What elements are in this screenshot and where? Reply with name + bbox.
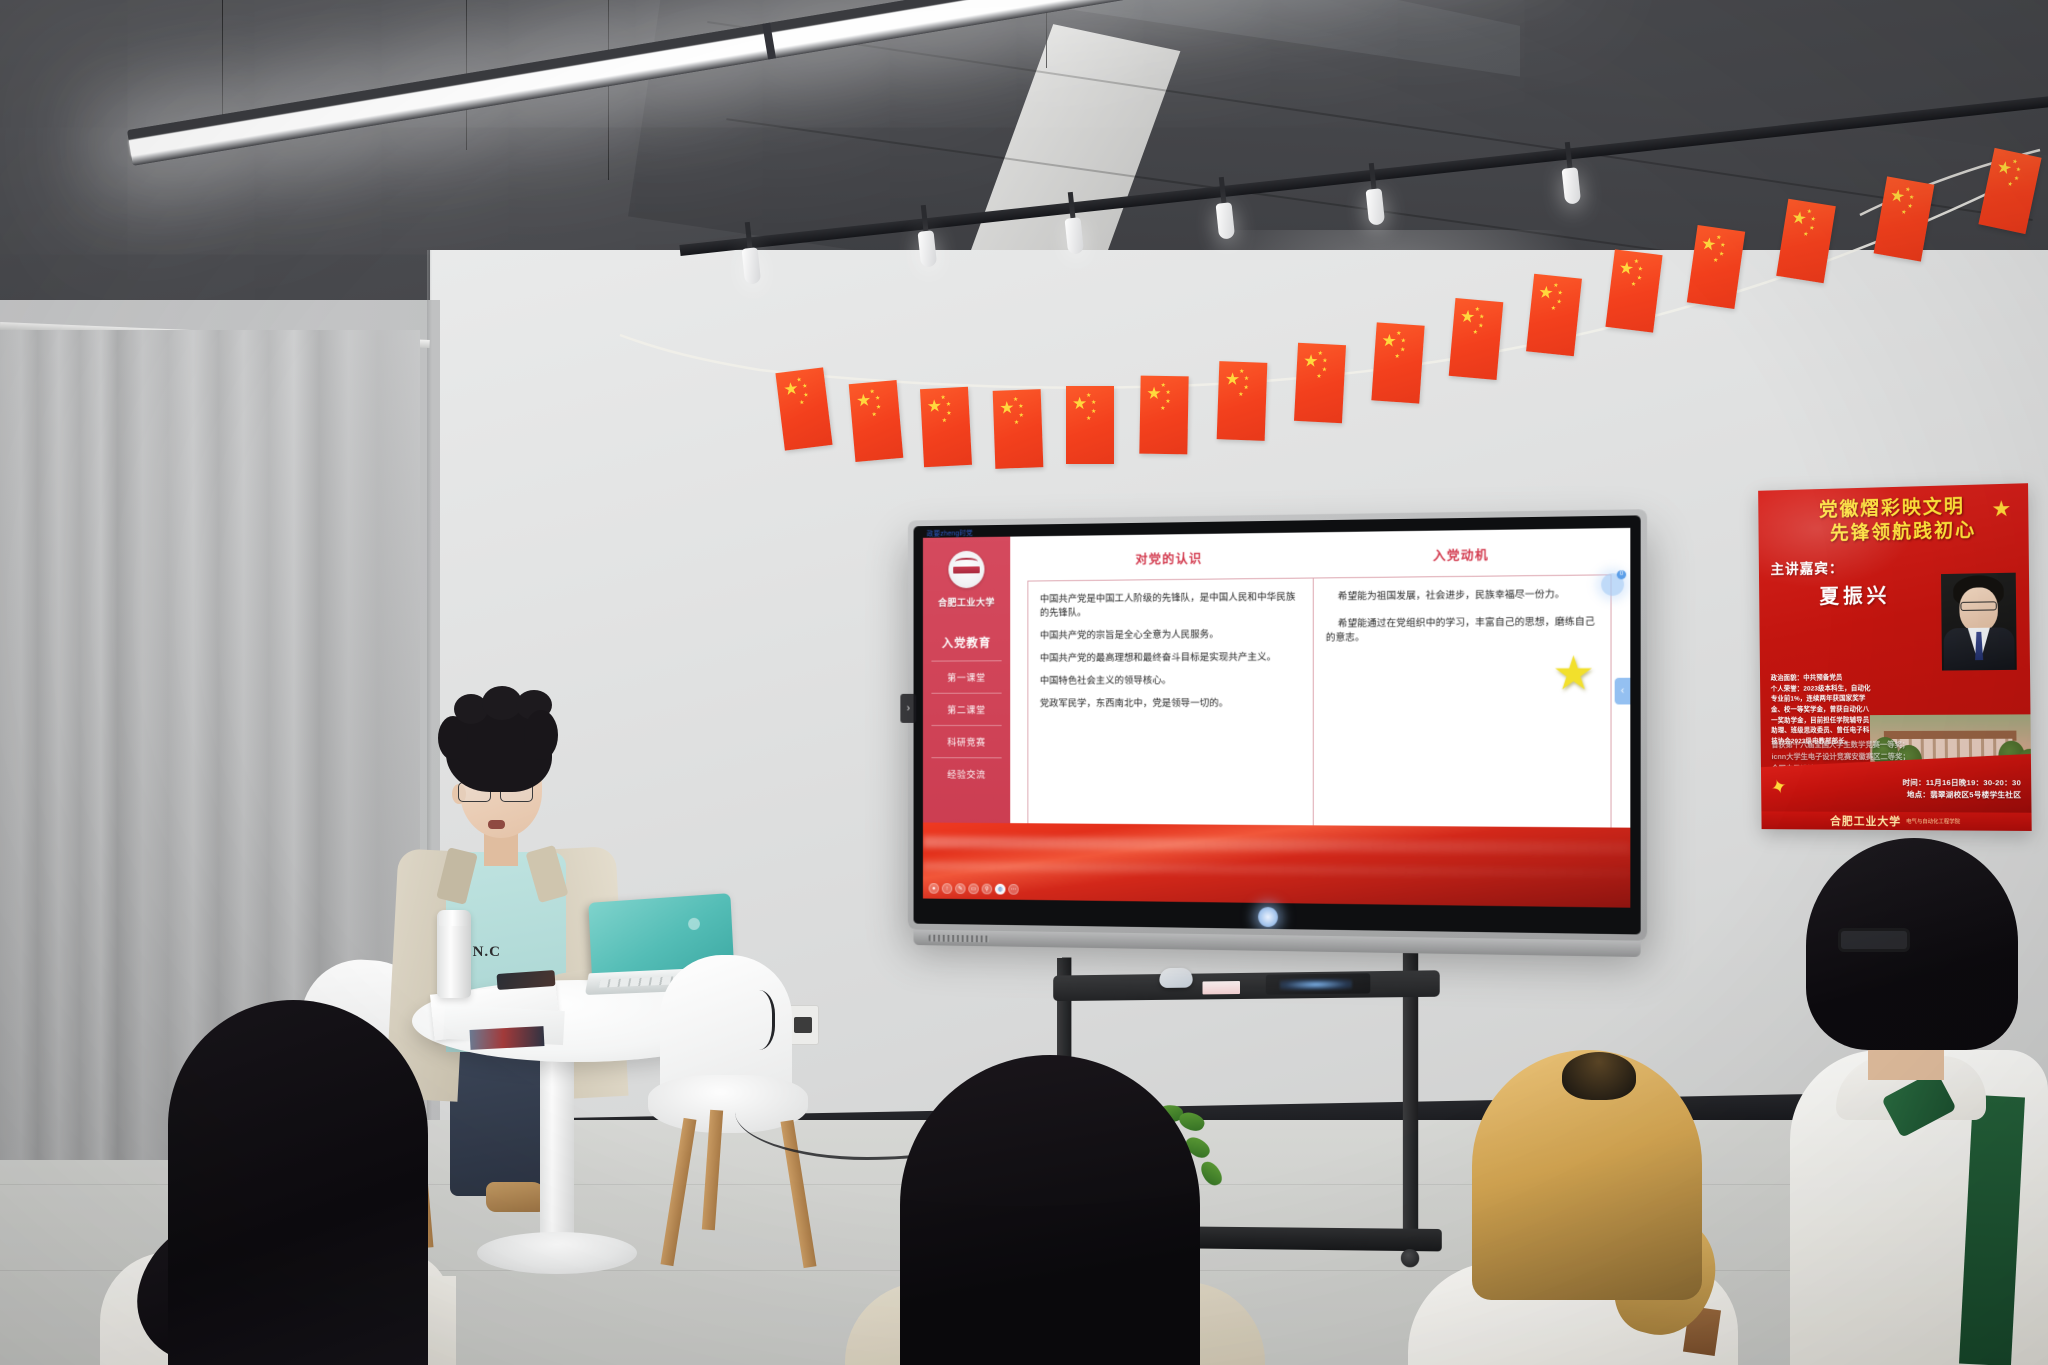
slide-heading-right: 入党动机 [1313,543,1611,566]
presenter-tshirt-text: R.N.C [456,944,556,961]
slide-nav-item-research[interactable]: 科研竞赛 [931,725,1001,757]
table-base [477,1232,637,1274]
event-poster[interactable]: ★ 党徽熠彩映文明 先锋领航践初心 主讲嘉宾： 夏振兴 政治面貌：中共预备党员 … [1758,483,2032,831]
slide-nav-item-second-classroom[interactable]: 第二课堂 [931,693,1001,725]
chevron-left-icon[interactable]: ‹ [1615,678,1631,705]
eraser-icon[interactable]: ▭ [968,883,978,894]
screen-watermark: 政要zheng时党 [927,528,973,538]
audience-center-long-black-hair [900,1055,1200,1365]
display-chin [914,900,1641,934]
slide-two-column-box: 中国共产党是中国工人阶级的先锋队，是中国人民和中华民族的先锋队。 中国共产党的宗… [1027,574,1611,851]
slide-nav-title: 入党教育 [942,634,991,651]
pen-icon[interactable]: ✎ [955,883,965,894]
poster-bio: 政治面貌：中共预备党员 个人荣誉：2023级本科生，自动化 专业前1%，连续两年… [1771,673,1937,748]
slide-paragraph: 中国共产党的最高理想和最终奋斗目标是实现共产主义。 [1040,651,1301,666]
avatar-badge-count: 0 [1617,570,1626,579]
slide-paragraph: 中国共产党是中国工人阶级的先锋队，是中国人民和中华民族的先锋队。 [1040,591,1301,621]
portrait-photo-icon [1941,573,2017,671]
table-stem [540,1040,574,1250]
thermos-tumbler[interactable] [437,910,471,998]
slide-university-name: 合肥工业大学 [938,595,995,609]
slide-column-right: 希望能为祖国发展，社会进步，民族幸福尽一份力。 希望能通过在党组织中的学习，丰富… [1314,575,1611,850]
audience-left-long-black-hair [168,1000,428,1365]
palette-icon[interactable]: ◍ [995,884,1005,895]
wireless-keyboard[interactable] [1266,973,1370,994]
ceiling-hanger-wire [222,0,223,120]
power-button-icon[interactable] [1258,907,1278,927]
presentation-slide: 合肥工业大学 入党教育 第一课堂 第二课堂 科研竞赛 经验交流 对党的认识 入党… [923,528,1630,908]
interactive-flat-panel-display[interactable]: › 政要zheng时党 合肥工业大学 入党教育 第一课堂 第二课堂 科研竞赛 经… [908,509,1647,941]
slide-paragraph: 希望能为祖国发展，社会进步，民族幸福尽一份力。 [1326,588,1598,605]
pointer-icon[interactable]: ↑ [942,883,952,894]
display-bezel: 政要zheng时党 合肥工业大学 入党教育 第一课堂 第二课堂 科研竞赛 经验交… [914,515,1641,934]
audience-blonde-hair-roots [1562,1052,1636,1100]
poster-title-line2: 先锋领航践初心 [1789,518,2018,547]
record-icon[interactable]: ● [929,883,939,894]
slide-paragraph: 中国共产党的宗旨是全心全意为人民服务。 [1040,628,1301,644]
poster-event-location: 地点：翡翠湖校区5号楼学生社区 [1907,789,2021,800]
computer-mouse[interactable] [1159,968,1192,988]
university-seal-icon [948,551,984,589]
poster-event-time: 时间：11月16日晚19：30-20：30 [1902,777,2021,788]
display-speaker-grille [929,935,990,943]
classroom-presentation-photo: ★★★★★ ★★★★★ ★★★★★ ★★★★★ ★★★★★ ★★★★★ ★★★★… [0,0,2048,1365]
slide-column-left: 中国共产党是中国工人阶级的先锋队，是中国人民和中华民族的先锋队。 中国共产党的宗… [1028,579,1313,848]
slide-headings: 对党的认识 入党动机 [1027,543,1611,569]
magnifier-icon[interactable]: ⚲ [982,884,992,895]
poster-footer-school: 电气与自动化工程学院 [1906,817,1960,825]
slide-paragraph: 中国特色社会主义的领导核心。 [1040,673,1301,688]
slide-nav-list: 第一课堂 第二课堂 科研竞赛 经验交流 [931,660,1001,789]
slide-red-ribbon-footer [923,822,1630,907]
user-avatar-icon[interactable]: 0 [1601,573,1624,596]
annotation-toolbar[interactable]: ● ↑ ✎ ▭ ⚲ ◍ ⋯ [929,883,1019,895]
presenter-hair [446,700,552,792]
slide-paragraph: 党政军民学，东西南北中，党是领导一切的。 [1040,696,1301,710]
chevron-right-icon[interactable]: › [900,694,916,723]
slide-paragraph: 希望能通过在党组织中的学习，丰富自己的思想，磨练自己的意志。 [1326,615,1598,645]
slide-nav-item-first-classroom[interactable]: 第一课堂 [931,660,1001,693]
presenter-shoe [486,1182,548,1212]
poster-title: 党徽熠彩映文明 先锋领航践初心 [1768,494,2019,548]
five-point-star-icon: ★ [1552,649,1595,696]
cart-top-shelf [1053,970,1440,1001]
poster-footer-university: 合肥工业大学 [1830,813,1901,829]
slide-nav-item-experience[interactable]: 经验交流 [931,757,1001,790]
leaflet[interactable] [470,1026,545,1050]
poster-footer: 合肥工业大学 电气与自动化工程学院 [1761,811,2031,831]
more-icon[interactable]: ⋯ [1008,884,1019,895]
printed-card [1203,981,1240,994]
eyeglasses-icon [1838,928,1910,952]
ceiling-hanger-wire [608,0,609,180]
slide-heading-left: 对党的认识 [1027,546,1313,568]
party-emblem-icon: ★ [1993,498,2011,522]
